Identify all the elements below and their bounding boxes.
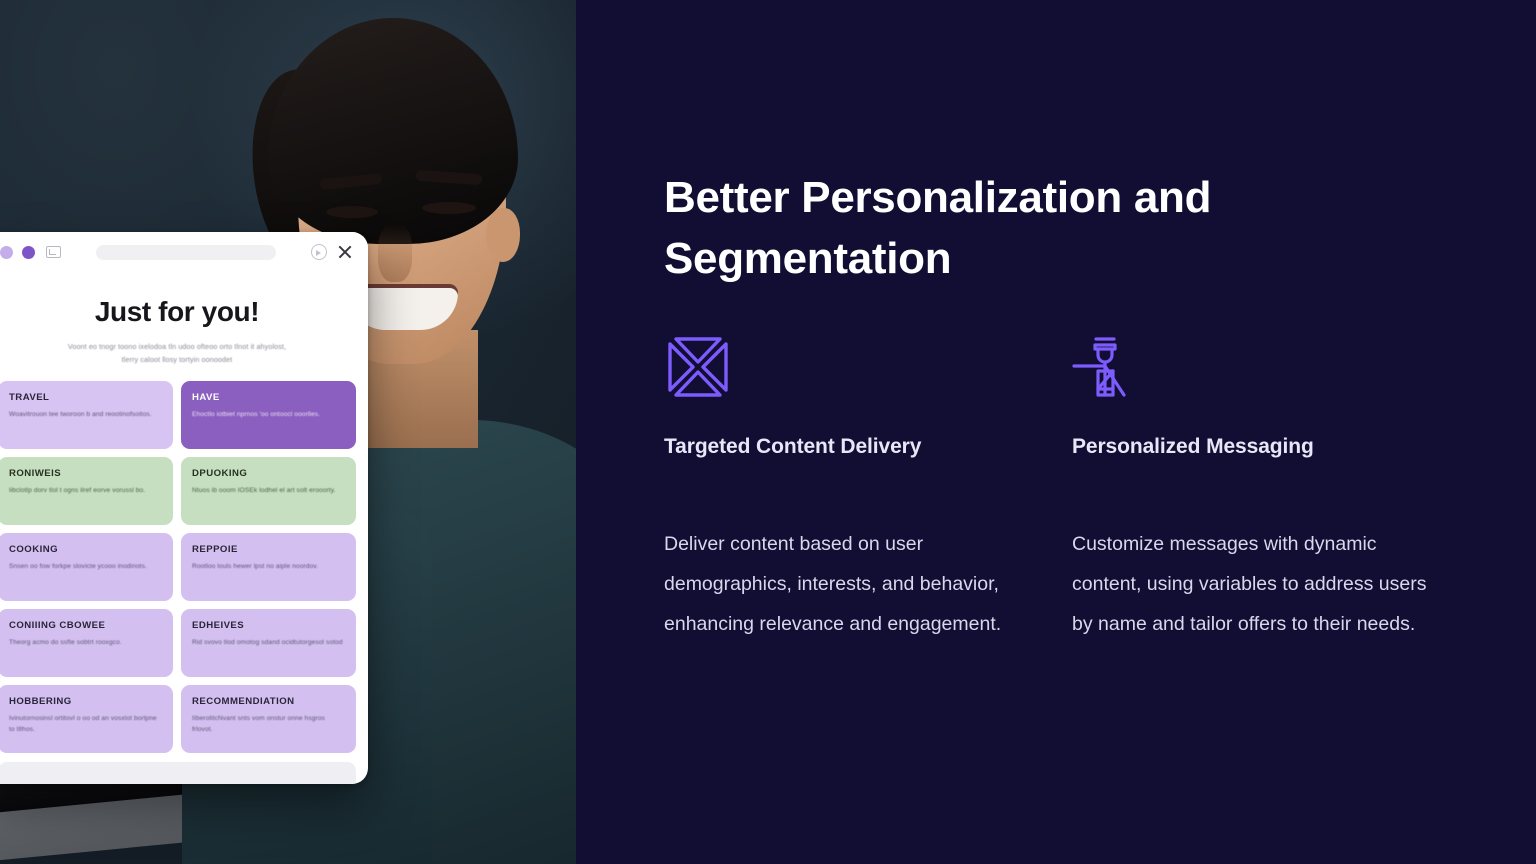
- feature-list: Targeted Content Delivery Deliver conten…: [664, 333, 1536, 645]
- app-content: Just for you! Voont eo tnogr toono ixelo…: [0, 272, 368, 784]
- window-dot-1[interactable]: [0, 246, 13, 259]
- interest-card-desc: Ntuos ib ooom IOSEk lodhel el art solt e…: [192, 485, 345, 497]
- interest-card-title: TRAVEL: [9, 392, 162, 403]
- interest-card[interactable]: DPUOKING Ntuos ib ooom IOSEk lodhel el a…: [181, 457, 356, 525]
- interest-card-title: HOBBERING: [9, 696, 162, 707]
- targeting-cross-icon: [664, 333, 1072, 405]
- interest-card[interactable]: RONIWEIS libclotlp dorv tlol t ogns ilre…: [0, 457, 173, 525]
- feature-body: Deliver content based on user demographi…: [664, 525, 1036, 645]
- refresh-icon[interactable]: [311, 244, 327, 260]
- interest-card-desc: Ivinutornosinsl ortitovl o oo od an vosx…: [9, 713, 162, 736]
- feature-body: Customize messages with dynamic content,…: [1072, 525, 1444, 645]
- interest-card-desc: Theorg acmo do ssfte sobtrt rooxgco.: [9, 637, 162, 649]
- interest-card-title: DPUOKING: [192, 468, 345, 479]
- feature-title: Targeted Content Delivery: [664, 435, 1072, 459]
- interest-card-title: CONIIING CBOWEE: [9, 620, 162, 631]
- app-subtitle-line-1: Voont eo tnogr toono ixelodoa tln udoo o…: [0, 340, 356, 353]
- page-title: Better Personalization and Segmentation: [664, 168, 1354, 289]
- interest-card-desc: IIberolitcNvant snts vom onstur onne hsg…: [192, 713, 345, 736]
- window-dot-2[interactable]: [22, 246, 35, 259]
- interest-card-title: EDHEIVES: [192, 620, 345, 631]
- person-hair: [268, 18, 518, 244]
- close-icon[interactable]: [336, 243, 354, 261]
- sidebar-toggle-icon[interactable]: [46, 246, 61, 258]
- app-footer-bar: [0, 762, 356, 784]
- interest-card[interactable]: TRAVEL Woavitrouon tee tworoon b and reo…: [0, 381, 173, 449]
- interest-card-title: RONIWEIS: [9, 468, 162, 479]
- interest-card-title: RECOMMENDIATION: [192, 696, 345, 707]
- interest-card[interactable]: RECOMMENDIATION IIberolitcNvant snts vom…: [181, 685, 356, 753]
- hero-photo: Just for you! Voont eo tnogr toono ixelo…: [0, 0, 576, 864]
- interest-card[interactable]: EDHEIVES Rid svovo tlod omotog sdand oci…: [181, 609, 356, 677]
- interest-card-desc: libclotlp dorv tlol t ogns ilref eorve v…: [9, 485, 162, 497]
- app-title: Just for you!: [0, 296, 356, 328]
- interest-card[interactable]: REPPOIE Rootloo louls hewer lpst no aipl…: [181, 533, 356, 601]
- person-ear: [486, 208, 520, 262]
- app-subtitle-line-2: tlerry caloot llosy tortyin oonoodet: [0, 353, 356, 366]
- person-eye-left: [326, 206, 378, 218]
- interest-card-desc: Rootloo louls hewer lpst no aiple noordo…: [192, 561, 345, 573]
- interest-card[interactable]: HAVE Ehoctlo iotbiet nprnos 'oo ontoocl …: [181, 381, 356, 449]
- person-messaging-icon: [1072, 333, 1480, 405]
- content-panel: Better Personalization and Segmentation …: [576, 0, 1536, 864]
- app-subtitle: Voont eo tnogr toono ixelodoa tln udoo o…: [0, 340, 356, 367]
- interest-card[interactable]: COOKING Snsen oo fow forkpe slovicte yco…: [0, 533, 173, 601]
- interest-card-desc: Woavitrouon tee tworoon b and reootinofs…: [9, 409, 162, 421]
- app-mockup-window: Just for you! Voont eo tnogr toono ixelo…: [0, 232, 368, 784]
- interest-card-grid: TRAVEL Woavitrouon tee tworoon b and reo…: [0, 381, 356, 753]
- interest-card-title: HAVE: [192, 392, 345, 403]
- address-bar[interactable]: [96, 245, 276, 260]
- feature-personalized-messaging: Personalized Messaging Customize message…: [1072, 333, 1480, 645]
- feature-title: Personalized Messaging: [1072, 435, 1480, 459]
- interest-card-desc: Snsen oo fow forkpe slovicte ycooo inodi…: [9, 561, 162, 573]
- window-titlebar: [0, 232, 368, 272]
- person-eye-right: [422, 202, 476, 214]
- interest-card-desc: Ehoctlo iotbiet nprnos 'oo ontoocl ooorl…: [192, 409, 345, 421]
- interest-card[interactable]: CONIIING CBOWEE Theorg acmo do ssfte sob…: [0, 609, 173, 677]
- interest-card[interactable]: HOBBERING Ivinutornosinsl ortitovl o oo …: [0, 685, 173, 753]
- slide-root: Just for you! Voont eo tnogr toono ixelo…: [0, 0, 1536, 864]
- interest-card-title: REPPOIE: [192, 544, 345, 555]
- interest-card-title: COOKING: [9, 544, 162, 555]
- interest-card-desc: Rid svovo tlod omotog sdand ocidtutorges…: [192, 637, 345, 649]
- feature-targeted-content-delivery: Targeted Content Delivery Deliver conten…: [664, 333, 1072, 645]
